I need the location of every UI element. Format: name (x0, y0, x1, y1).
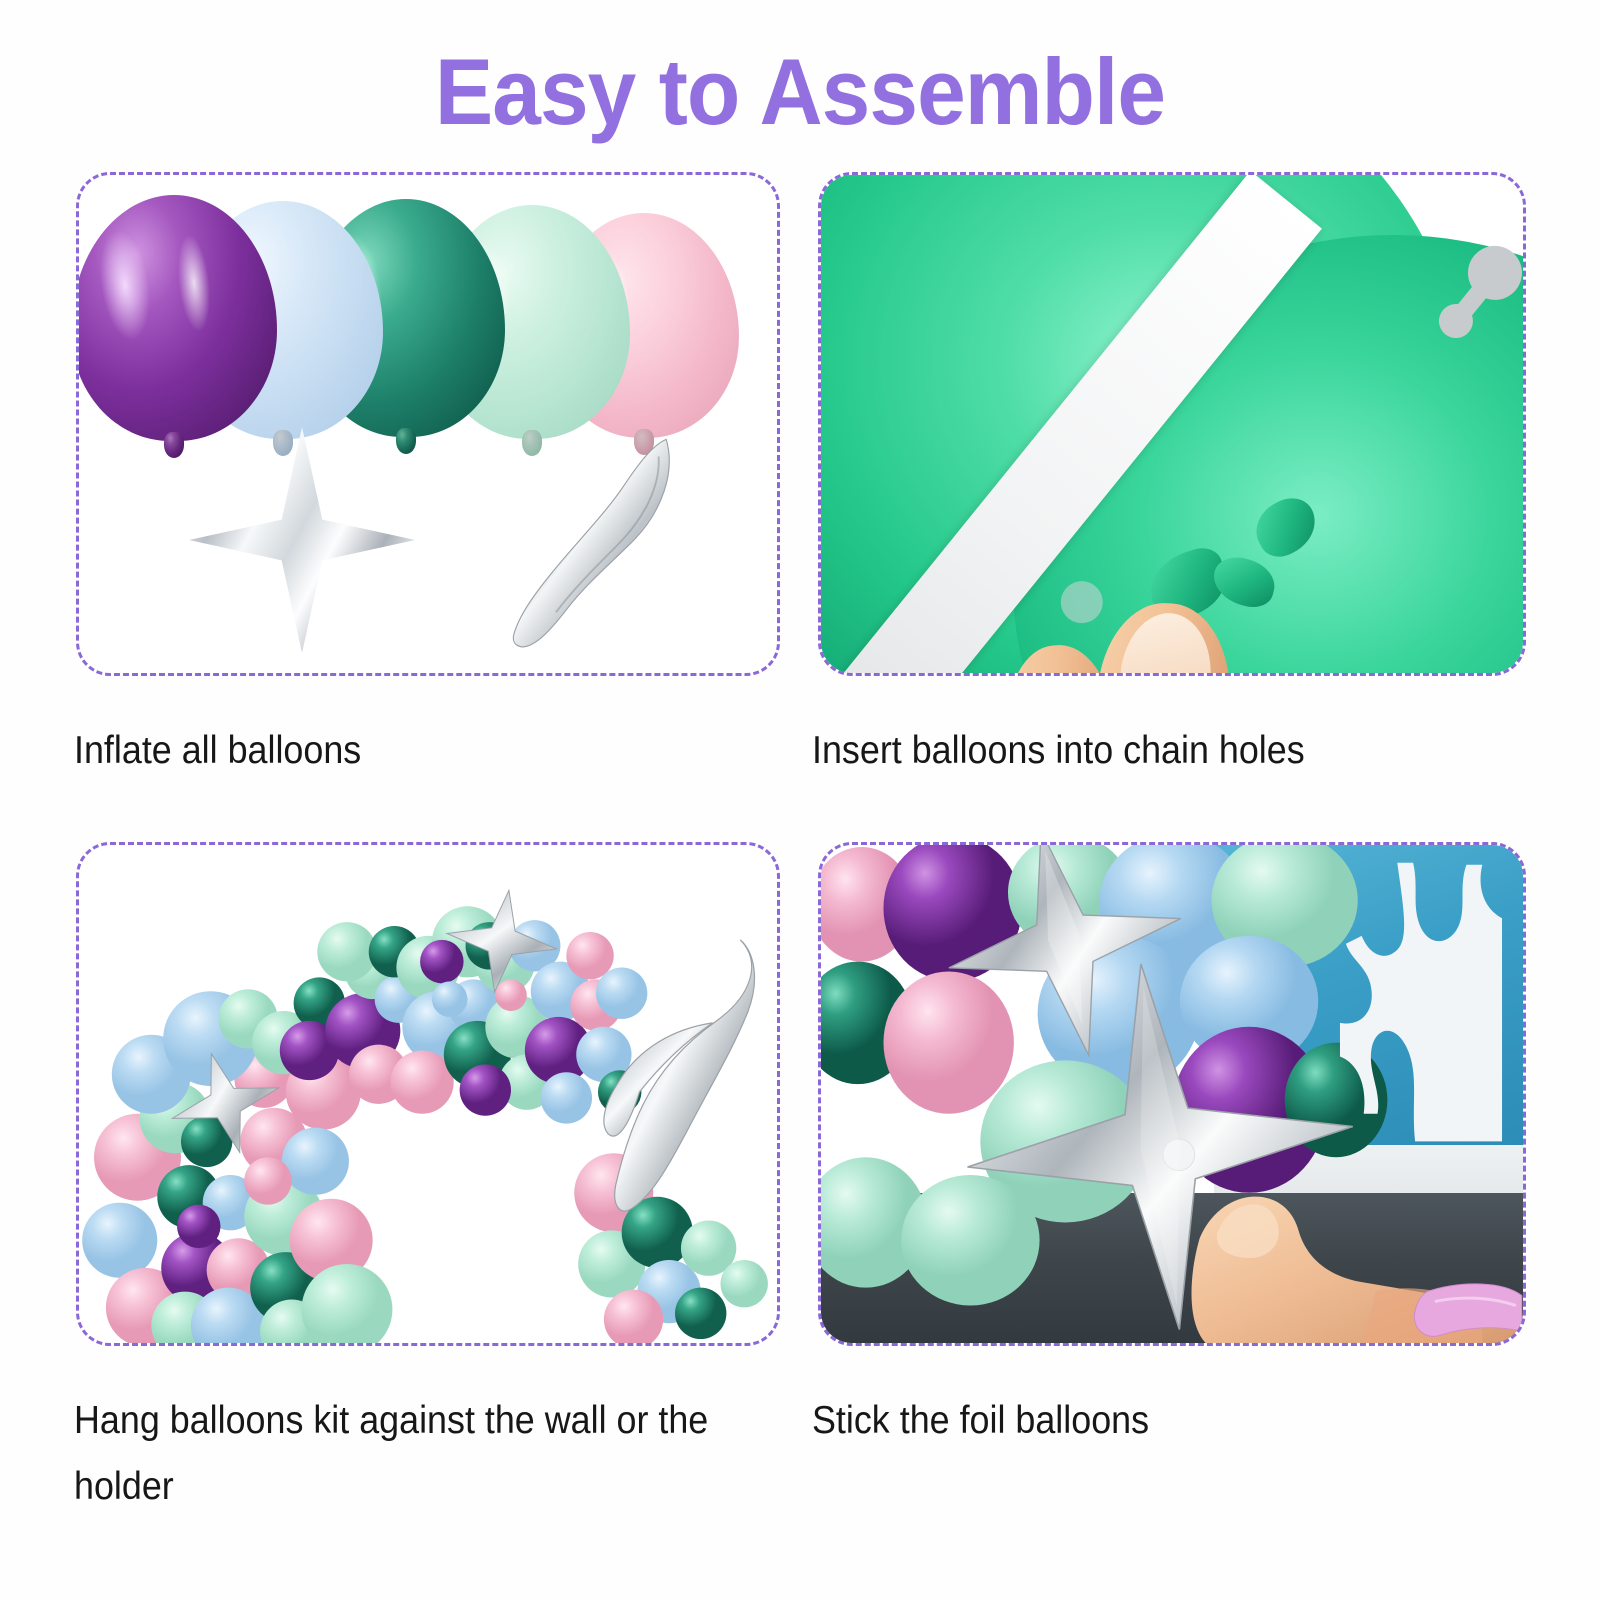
step-1-illustration (79, 175, 777, 673)
pink-mermaid-tail-foil-balloon (1414, 1284, 1521, 1337)
step-2-caption: Insert balloons into chain holes (812, 718, 1474, 784)
page-title: Easy to Assemble (56, 38, 1544, 146)
step-3-caption: Hang balloons kit against the wall or th… (74, 1388, 755, 1520)
step-2-image-panel (818, 172, 1526, 676)
instruction-infographic: Easy to Assemble (0, 0, 1600, 1600)
balloon-wall-cluster (821, 845, 1387, 1305)
step-4-caption: Stick the foil balloons (812, 1388, 1474, 1454)
step-3-image-panel (76, 842, 780, 1346)
step-1-image-panel (76, 172, 780, 676)
silver-mermaid-tail-foil-balloon (499, 431, 689, 651)
step-4-illustration (821, 845, 1523, 1343)
balloon-garland-arch (79, 845, 777, 1343)
step-4-scene (821, 845, 1523, 1343)
step-2-illustration (821, 175, 1523, 673)
silver-star-foil-balloon (189, 427, 415, 653)
step-1-caption: Inflate all balloons (74, 718, 718, 784)
step-3-illustration (79, 845, 777, 1343)
step-4-image-panel (818, 842, 1526, 1346)
